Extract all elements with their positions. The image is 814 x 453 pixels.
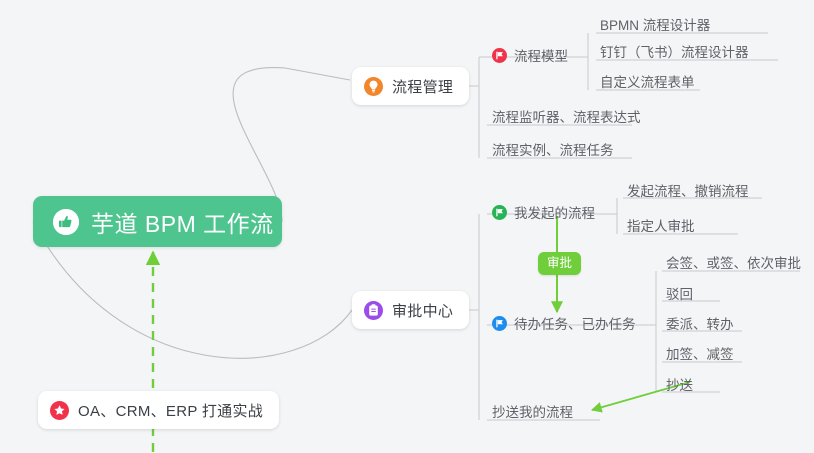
root-label: 芋道 BPM 工作流 [91,205,274,239]
leaf-assign-approver[interactable]: 指定人审批 [627,215,695,235]
clipboard-icon [364,301,383,320]
footnote-node-integration[interactable]: OA、CRM、ERP 打通实战 [38,391,279,429]
leaf-process-instance[interactable]: 流程实例、流程任务 [492,139,614,159]
leaf-countersign[interactable]: 会签、或签、依次审批 [666,252,801,272]
approval-flow-badge: 审批 [538,252,581,275]
sub-node-label: 我发起的流程 [514,202,595,222]
branch-label: 审批中心 [392,300,453,321]
leaf-cc[interactable]: 抄送 [666,374,693,394]
root-node[interactable]: 芋道 BPM 工作流 [33,196,282,247]
leaf-delegate-transfer[interactable]: 委派、转办 [666,313,734,333]
leaf-bpmn-designer[interactable]: BPMN 流程设计器 [600,14,710,34]
footnote-label: OA、CRM、ERP 打通实战 [78,400,263,421]
leaf-process-listener[interactable]: 流程监听器、流程表达式 [492,106,641,126]
leaf-cc-to-me[interactable]: 抄送我的流程 [492,401,573,421]
flag-icon [492,205,507,220]
lightbulb-icon [364,77,383,96]
star-icon [50,401,69,420]
thumbs-up-icon [53,209,79,235]
sub-node-process-model[interactable]: 流程模型 [492,45,568,65]
leaf-custom-form[interactable]: 自定义流程表单 [600,71,695,91]
leaf-add-remove-sign[interactable]: 加签、减签 [666,343,734,363]
leaf-dingtalk-designer[interactable]: 钉钉（飞书）流程设计器 [600,41,749,61]
branch-label: 流程管理 [392,76,453,97]
sub-node-label: 待办任务、已办任务 [514,313,636,333]
branch-node-approval-center[interactable]: 审批中心 [352,291,469,329]
flag-icon [492,48,507,63]
sub-node-todo-done-tasks[interactable]: 待办任务、已办任务 [492,313,636,333]
mindmap-canvas: 芋道 BPM 工作流 流程管理 流程模型 BPMN 流程设计器 钉钉（飞书）流程… [0,0,814,453]
leaf-start-cancel-process[interactable]: 发起流程、撤销流程 [627,180,749,200]
sub-node-label: 流程模型 [514,45,568,65]
branch-node-process-management[interactable]: 流程管理 [352,67,469,105]
leaf-reject[interactable]: 驳回 [666,283,693,303]
flag-icon [492,316,507,331]
sub-node-my-initiated[interactable]: 我发起的流程 [492,202,595,222]
